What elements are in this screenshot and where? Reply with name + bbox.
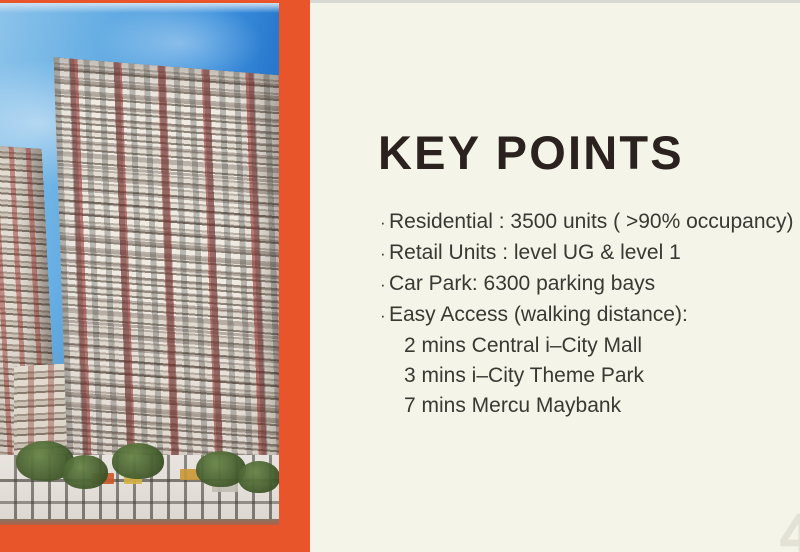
building-photo	[0, 3, 279, 525]
sky-haze	[0, 3, 279, 13]
sub-list-item: 7 mins Mercu Maybank	[380, 391, 800, 421]
list-item: · Easy Access (walking distance):	[380, 300, 800, 331]
ground-strip	[0, 519, 279, 525]
list-item: · Car Park: 6300 parking bays	[380, 269, 800, 300]
list-item-label: Easy Access (walking distance):	[389, 300, 688, 330]
sub-list-item: 2 mins Central i–City Mall	[380, 331, 800, 361]
list-item: · Residential : 3500 units ( >90% occupa…	[380, 207, 800, 238]
list-item-label: Retail Units : level UG & level 1	[389, 238, 681, 268]
content-panel: KEY POINTS · Residential : 3500 units ( …	[310, 3, 800, 552]
bullet-list: · Residential : 3500 units ( >90% occupa…	[380, 207, 800, 421]
page-number: 4	[780, 501, 800, 552]
list-item-label: Residential : 3500 units ( >90% occupanc…	[389, 207, 794, 237]
tree	[112, 443, 164, 479]
slide-canvas: KEY POINTS · Residential : 3500 units ( …	[0, 0, 800, 552]
bullet-dot-icon: ·	[380, 208, 389, 238]
bullet-dot-icon: ·	[380, 301, 389, 331]
list-item: · Retail Units : level UG & level 1	[380, 238, 800, 269]
list-item-label: Car Park: 6300 parking bays	[389, 269, 655, 299]
page-title: KEY POINTS	[378, 125, 684, 180]
bullet-dot-icon: ·	[380, 270, 389, 300]
sub-list-item: 3 mins i–City Theme Park	[380, 361, 800, 391]
bullet-dot-icon: ·	[380, 239, 389, 269]
tree	[62, 455, 108, 489]
tree	[238, 461, 279, 493]
